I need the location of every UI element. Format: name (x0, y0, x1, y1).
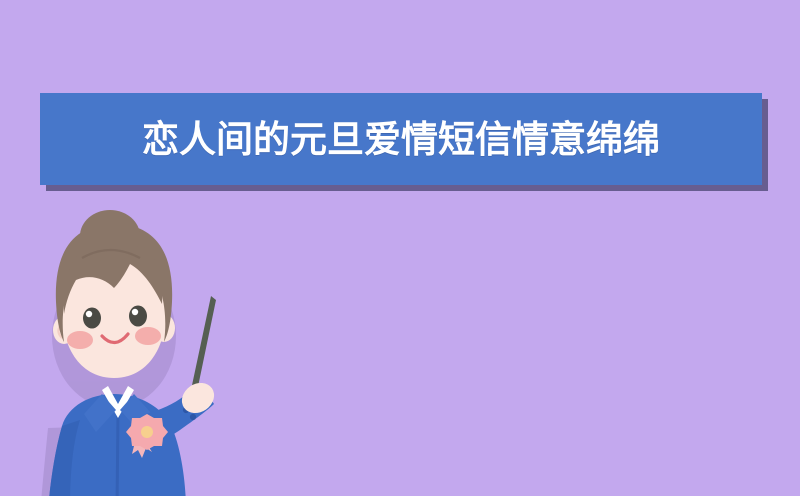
hair-bun-lower (74, 233, 106, 263)
eye-right (129, 306, 147, 327)
page-canvas: 恋人间的元旦爱情短信情意绵绵 (0, 0, 800, 496)
page-title: 恋人间的元旦爱情短信情意绵绵 (142, 121, 660, 158)
eye-left (83, 308, 101, 329)
blush-left (67, 331, 93, 349)
blush-right (135, 327, 161, 345)
jacket-center-seam (117, 414, 118, 496)
teacher-illustration (18, 218, 248, 496)
sleeve-button-2 (190, 414, 196, 420)
badge-center (141, 426, 153, 438)
title-banner: 恋人间的元旦爱情短信情意绵绵 (40, 93, 762, 185)
